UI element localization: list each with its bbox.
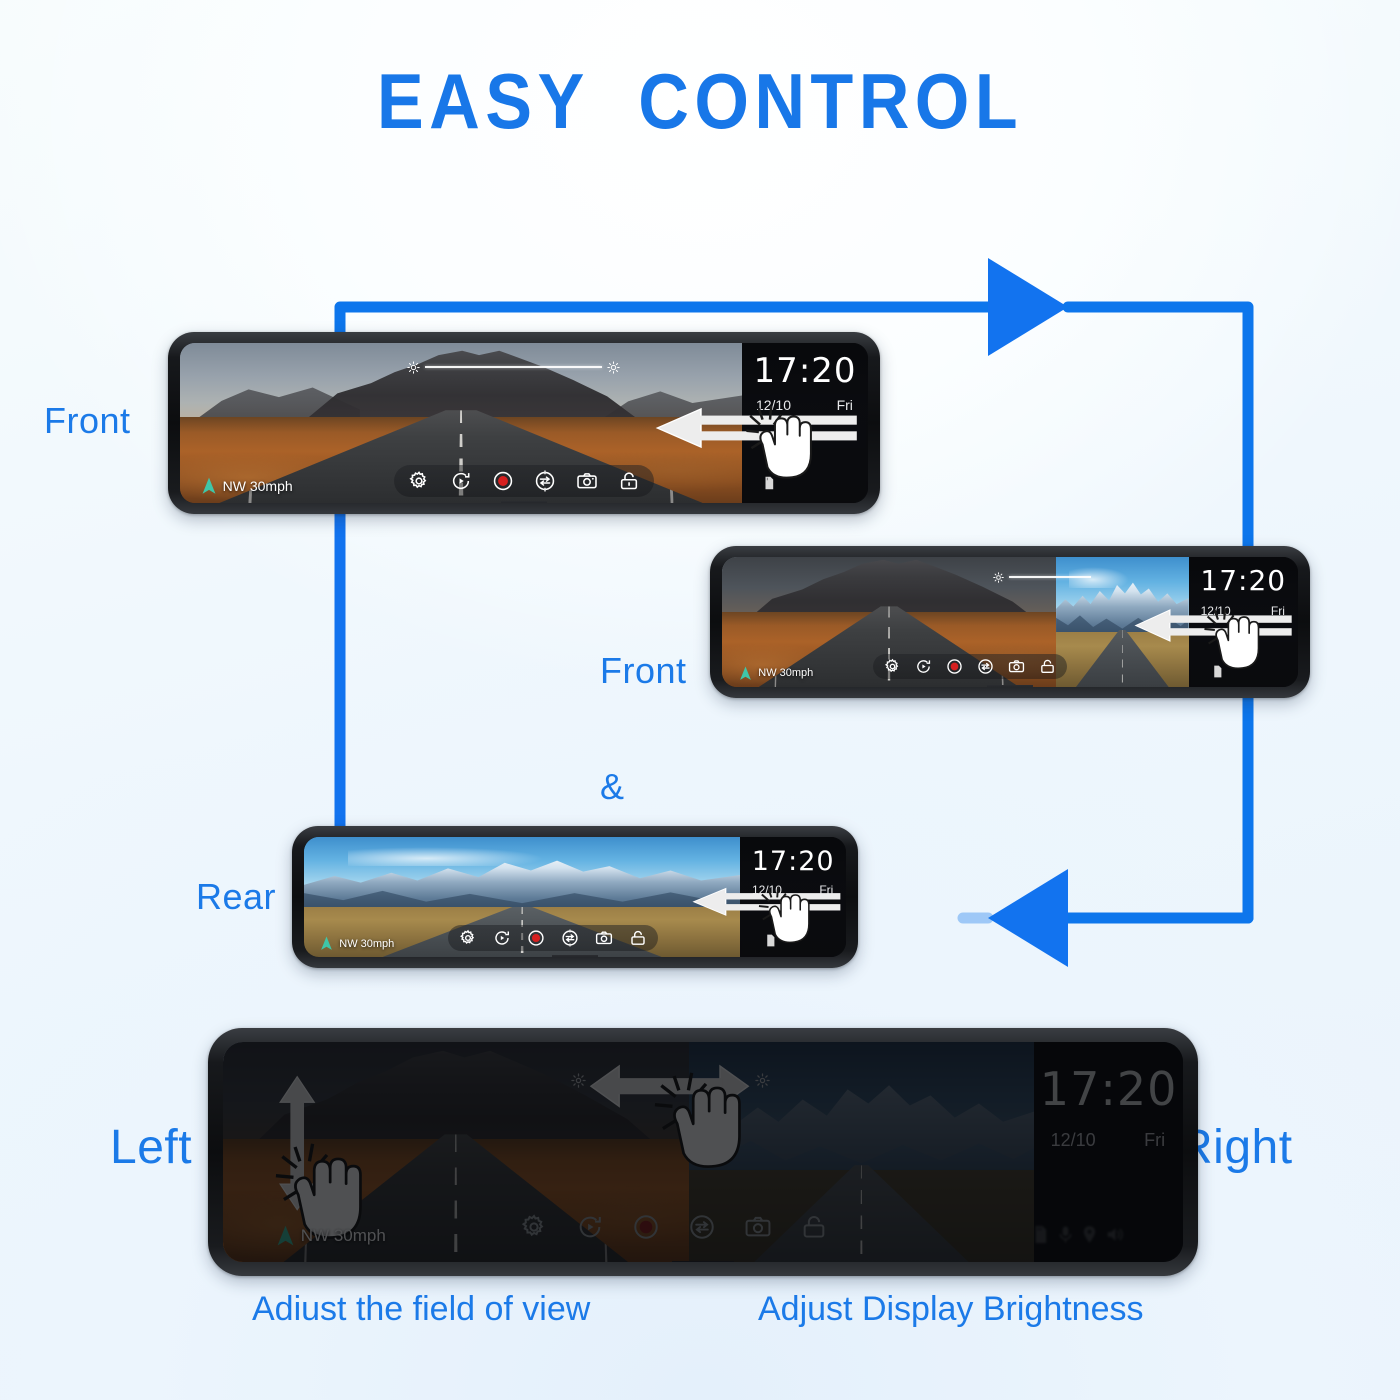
- rearview-mirror-dashcam-front[interactable]: NW 30mph: [168, 332, 880, 514]
- snapshot-icon[interactable]: [576, 470, 598, 492]
- clock-date: 12/10: [1051, 1130, 1096, 1151]
- osd-toolbar[interactable]: [448, 925, 658, 951]
- hand-tap-icon: [650, 1068, 746, 1196]
- playback-icon[interactable]: [576, 1213, 604, 1241]
- speed-indicator: NW 30mph: [201, 477, 293, 495]
- brightness-low-icon: [571, 1073, 586, 1088]
- snapshot-icon[interactable]: [1008, 658, 1025, 675]
- speed-text: NW 30mph: [339, 938, 394, 950]
- clock-day: Fri: [1144, 1130, 1165, 1151]
- switch-camera-icon[interactable]: [561, 929, 579, 947]
- record-icon[interactable]: [492, 470, 514, 492]
- settings-icon[interactable]: [459, 929, 477, 947]
- playback-icon[interactable]: [493, 929, 511, 947]
- settings-icon[interactable]: [884, 658, 901, 675]
- switch-camera-icon[interactable]: [534, 470, 556, 492]
- record-icon[interactable]: [527, 929, 545, 947]
- page-title: EASY CONTROL: [70, 62, 1330, 140]
- device-screen-rear[interactable]: NW 30mph: [304, 837, 846, 957]
- hand-tap-icon: [703, 401, 854, 500]
- playback-icon[interactable]: [450, 470, 472, 492]
- speed-text: NW 30mph: [758, 667, 813, 679]
- flow-arrowhead-right: [988, 258, 1068, 356]
- clock-time: 17:20: [1040, 1066, 1178, 1112]
- speed-text: NW 30mph: [223, 478, 293, 494]
- record-icon[interactable]: [946, 658, 963, 675]
- label-left: Left: [110, 1122, 192, 1174]
- label-front-and-rear-line2: &: [600, 768, 687, 807]
- snapshot-icon[interactable]: [595, 929, 613, 947]
- speed-indicator: NW 30mph: [739, 666, 813, 681]
- caption-field-of-view: Adiust the field of view: [252, 1290, 590, 1329]
- label-rear: Rear: [196, 878, 276, 917]
- speed-indicator: NW 30mph: [276, 1225, 386, 1247]
- label-front-and-rear-line1: Front: [600, 652, 687, 691]
- navigation-arrow-icon: [276, 1225, 295, 1247]
- playback-icon[interactable]: [915, 658, 932, 675]
- switch-camera-icon[interactable]: [977, 658, 994, 675]
- clock-time: 17:20: [754, 354, 857, 388]
- device-screen-front[interactable]: NW 30mph: [180, 343, 868, 503]
- flow-arrowhead-left: [988, 869, 1068, 967]
- unlock-icon[interactable]: [1039, 658, 1056, 675]
- brightness-high-icon: [607, 361, 620, 374]
- brightness-high-icon: [755, 1073, 770, 1088]
- sd-card-icon: [763, 476, 775, 490]
- unlock-icon[interactable]: [629, 929, 647, 947]
- osd-toolbar[interactable]: [394, 465, 654, 497]
- sd-card-icon: [1212, 665, 1223, 678]
- navigation-arrow-icon: [739, 666, 752, 681]
- hand-tap-icon: [1171, 604, 1292, 687]
- brightness-low-icon: [993, 572, 1004, 583]
- navigation-arrow-icon: [320, 936, 333, 951]
- brightness-slider-track[interactable]: [425, 366, 602, 368]
- brightness-slider[interactable]: [993, 570, 1091, 584]
- rearview-mirror-dashcam-front-rear[interactable]: NW 30mph: [710, 546, 1310, 698]
- hand-tap-icon: [727, 883, 841, 957]
- caption-brightness: Adjust Display Brightness: [758, 1290, 1144, 1329]
- osd-toolbar[interactable]: [873, 654, 1067, 679]
- brightness-low-icon: [407, 361, 420, 374]
- rearview-mirror-dashcam-brightness[interactable]: NW 30mph: [208, 1028, 1198, 1276]
- speed-indicator: NW 30mph: [320, 936, 394, 951]
- settings-icon[interactable]: [408, 470, 430, 492]
- brightness-slider-track[interactable]: [1009, 576, 1091, 578]
- settings-icon[interactable]: [520, 1213, 548, 1241]
- device-screen-front-rear[interactable]: NW 30mph: [722, 557, 1298, 687]
- osd-toolbar[interactable]: [504, 1207, 844, 1247]
- record-icon[interactable]: [632, 1213, 660, 1241]
- sd-card-icon: [765, 934, 776, 947]
- clock-time: 17:20: [752, 848, 835, 875]
- label-front: Front: [44, 402, 131, 441]
- unlock-icon[interactable]: [800, 1213, 828, 1241]
- navigation-arrow-icon: [201, 477, 217, 495]
- brightness-slider[interactable]: [407, 359, 620, 375]
- clock-panel: 17:20 12/10 Fri: [1034, 1042, 1183, 1262]
- speed-text: NW 30mph: [301, 1226, 386, 1246]
- snapshot-icon[interactable]: [744, 1213, 772, 1241]
- device-screen-brightness[interactable]: NW 30mph: [223, 1042, 1183, 1262]
- clock-time: 17:20: [1200, 567, 1286, 595]
- rearview-mirror-dashcam-rear[interactable]: NW 30mph: [292, 826, 858, 968]
- unlock-icon[interactable]: [618, 470, 640, 492]
- switch-camera-icon[interactable]: [688, 1213, 716, 1241]
